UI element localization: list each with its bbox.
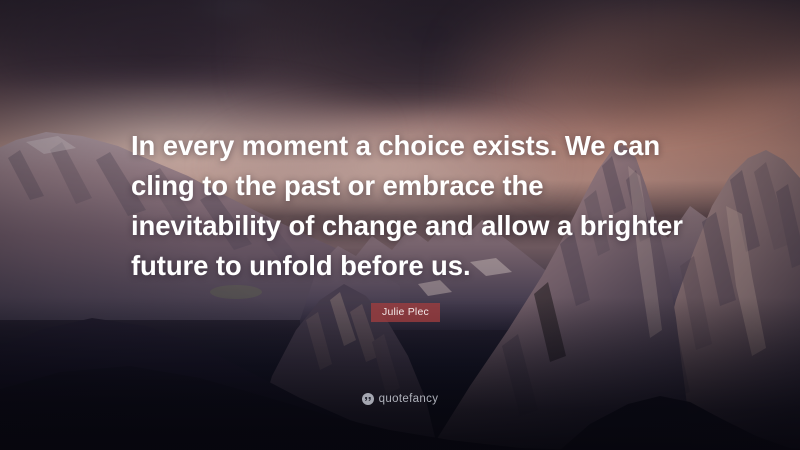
watermark: quotefancy [0,393,800,405]
quote-poster: In every moment a choice exists. We can … [0,0,800,450]
watermark-brand: quotefancy [379,393,439,405]
author-badge: Julie Plec [371,303,440,322]
quote-mark-circle-icon [362,393,374,405]
poster-content: In every moment a choice exists. We can … [0,0,800,450]
quote-text: In every moment a choice exists. We can … [131,126,683,286]
